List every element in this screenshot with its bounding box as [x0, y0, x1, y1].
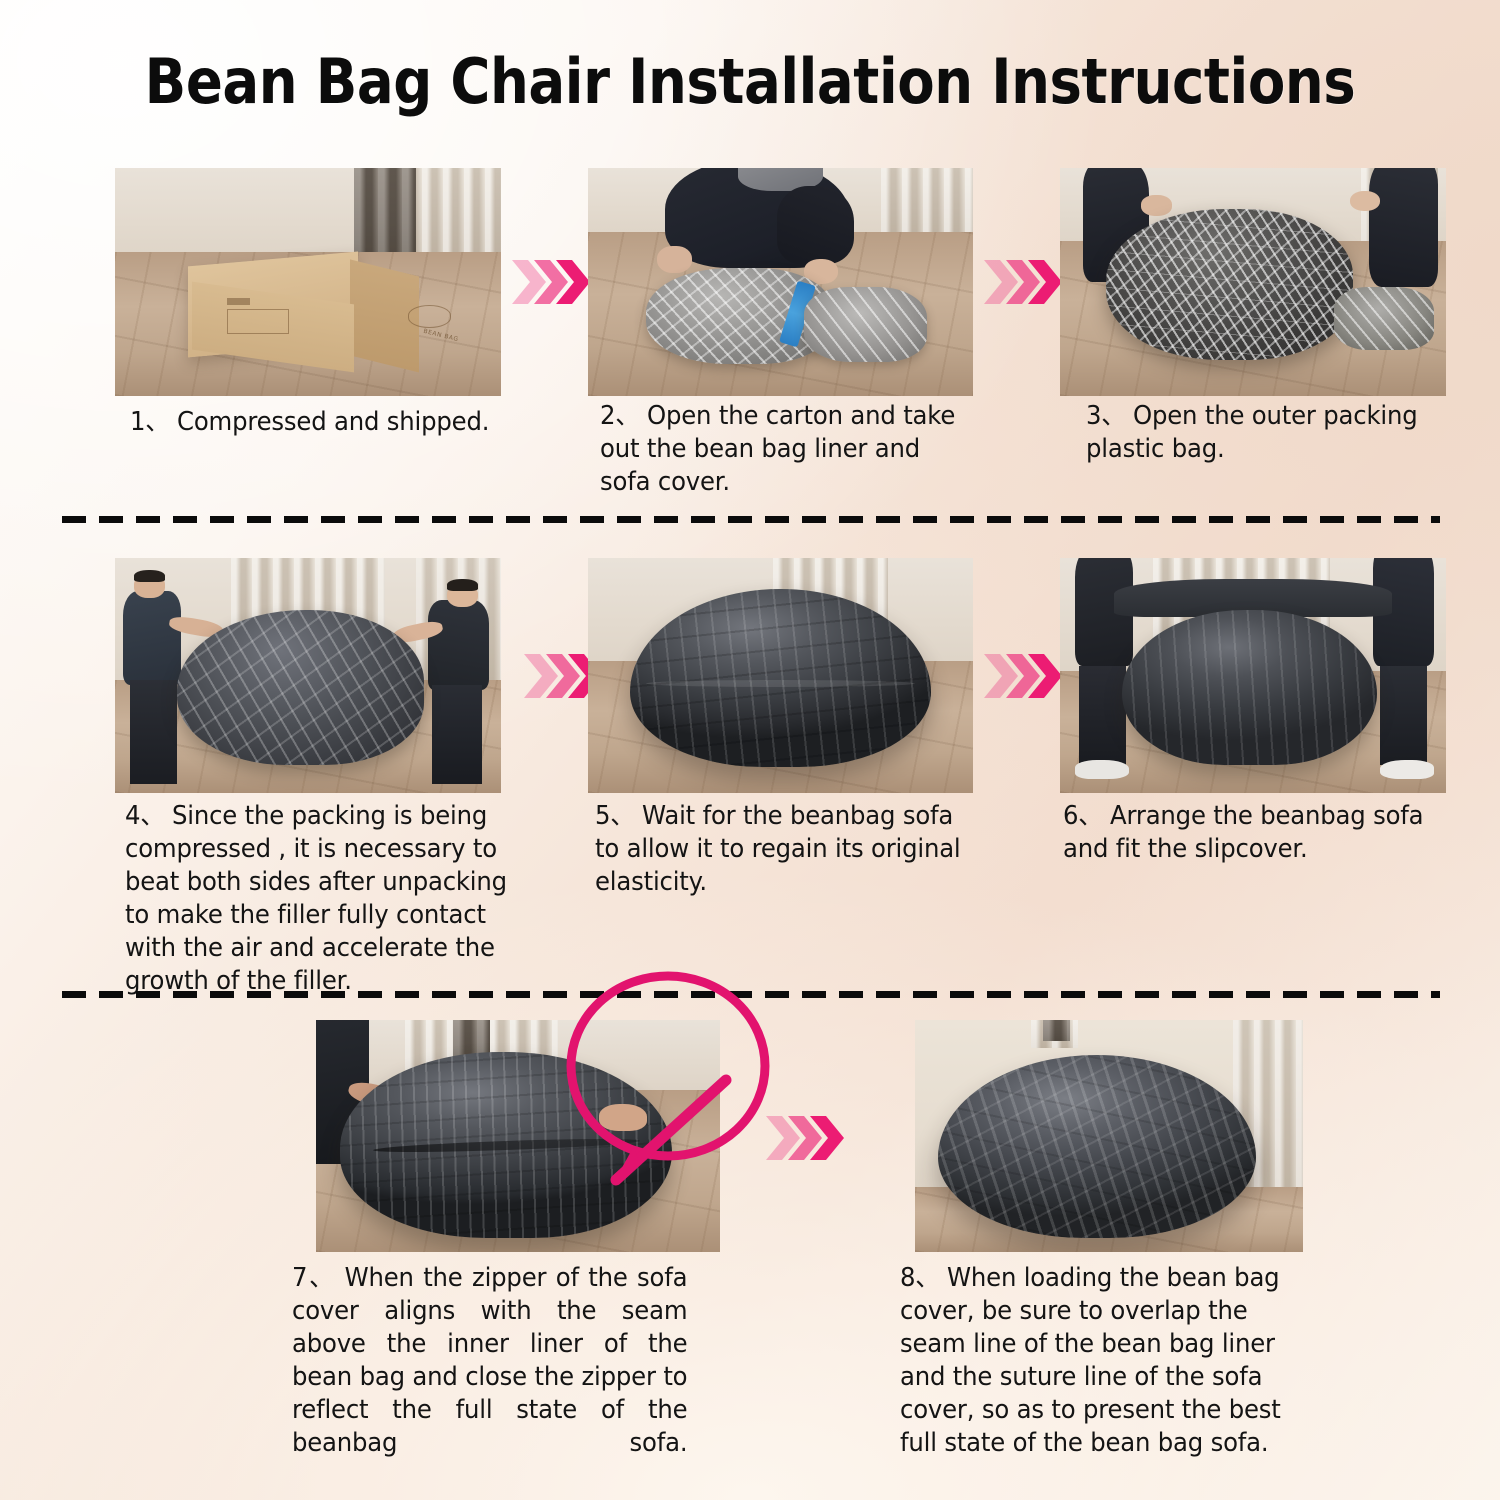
- photo-step-8-finished-bean-bag: [915, 1020, 1303, 1252]
- infographic-page: Bean Bag Chair Installation Instructions…: [0, 0, 1500, 1500]
- arrow-step-5-to-6: [984, 650, 1006, 694]
- step-number-8: 8、: [900, 1263, 939, 1293]
- arrow-step-7-to-8: [766, 1112, 788, 1156]
- chevron-right-triple-icon: [524, 650, 546, 694]
- step-text-7: When the zipper of the sofa cover aligns…: [292, 1263, 687, 1458]
- caption-step-6: 6、 Arrange the beanbag sofa and fit the …: [1063, 800, 1437, 866]
- photo-step-2-open-carton: [588, 168, 973, 396]
- step-text-2: Open the carton and take out the bean ba…: [600, 401, 955, 497]
- section-divider-2: [62, 991, 1440, 998]
- caption-step-8: 8、 When loading the bean bag cover, be s…: [900, 1262, 1282, 1460]
- caption-step-2: 2、 Open the carton and take out the bean…: [600, 400, 974, 499]
- caption-step-7: 7、 When the zipper of the sofa cover ali…: [292, 1262, 687, 1493]
- step-number-6: 6、: [1063, 801, 1102, 831]
- page-title: Bean Bag Chair Installation Instructions: [90, 46, 1410, 118]
- step-text-4: Since the packing is being compressed , …: [125, 801, 507, 996]
- step-number-3: 3、: [1086, 401, 1125, 431]
- step-number-2: 2、: [600, 401, 639, 431]
- photo-step-1-carton-on-floor: BEAN BAG: [115, 168, 501, 396]
- chevron-right-triple-icon: [512, 256, 534, 300]
- caption-step-5: 5、 Wait for the beanbag sofa to allow it…: [595, 800, 969, 899]
- caption-step-4: 4、 Since the packing is being compressed…: [125, 800, 507, 998]
- step-text-1: Compressed and shipped.: [177, 407, 489, 437]
- chevron-right-triple-icon: [766, 1112, 788, 1156]
- step-text-8: When loading the bean bag cover, be sure…: [900, 1263, 1281, 1458]
- step-text-3: Open the outer packing plastic bag.: [1086, 401, 1417, 464]
- photo-step-6-fit-slipcover: [1060, 558, 1446, 793]
- step-number-1: 1、: [130, 407, 169, 437]
- chevron-right-triple-icon: [984, 256, 1006, 300]
- step-text-5: Wait for the beanbag sofa to allow it to…: [595, 801, 961, 897]
- caption-step-1: 1、 Compressed and shipped.: [130, 406, 512, 439]
- step-number-7: 7、: [292, 1263, 335, 1293]
- step-number-5: 5、: [595, 801, 634, 831]
- photo-step-5-wait-to-expand: [588, 558, 973, 793]
- arrow-step-4-to-5: [524, 650, 546, 694]
- arrow-step-2-to-3: [984, 256, 1006, 300]
- arrow-step-1-to-2: [512, 256, 534, 300]
- caption-step-3: 3、 Open the outer packing plastic bag.: [1086, 400, 1439, 466]
- chevron-right-triple-icon: [984, 650, 1006, 694]
- photo-step-7-align-zipper: [316, 1020, 720, 1252]
- photo-step-3-open-plastic-bag: [1060, 168, 1446, 396]
- photo-step-4-beat-both-sides: [115, 558, 501, 793]
- step-number-4: 4、: [125, 801, 164, 831]
- section-divider-1: [62, 516, 1440, 523]
- step-text-6: Arrange the beanbag sofa and fit the sli…: [1063, 801, 1423, 864]
